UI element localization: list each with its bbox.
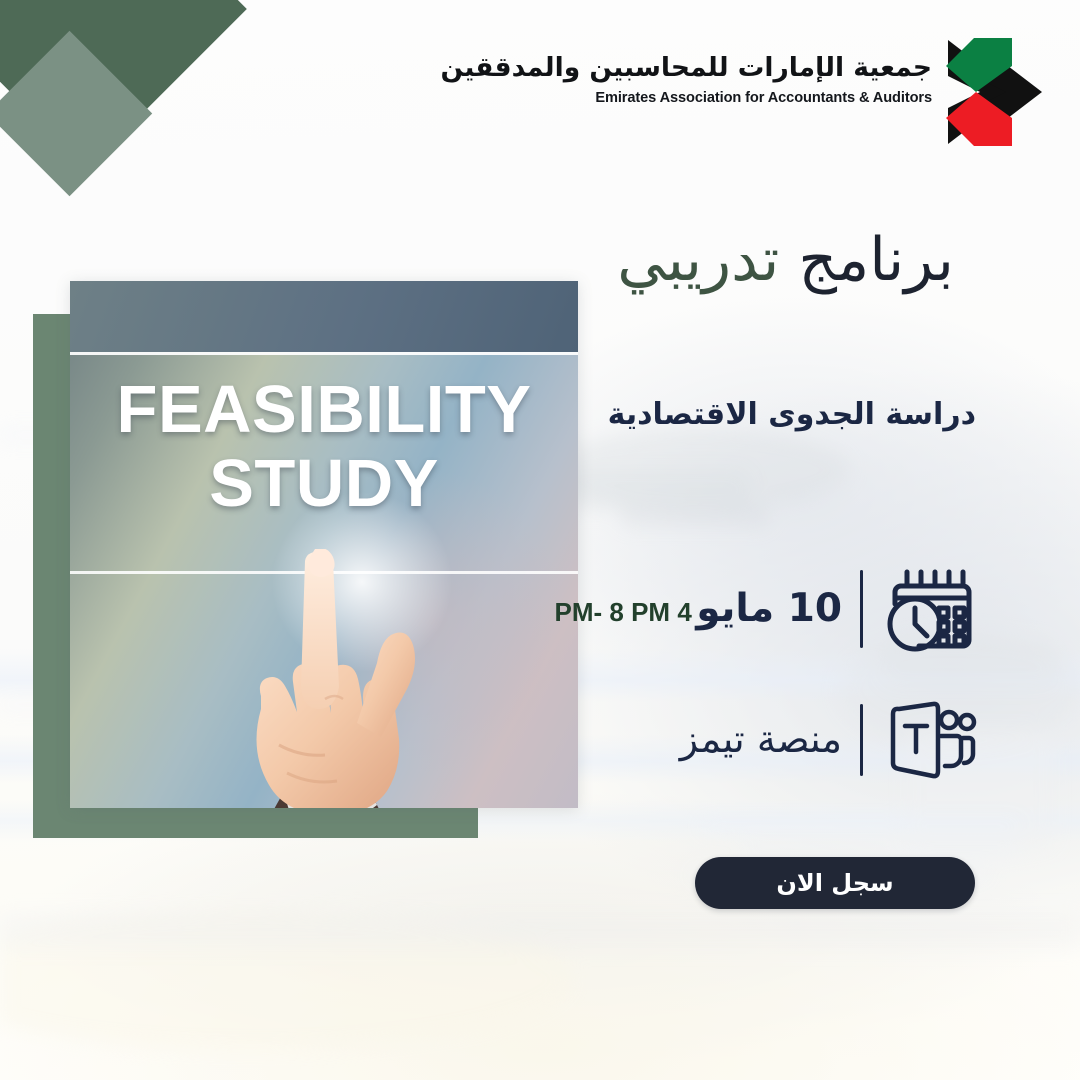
photo-headline: FEASIBILITY STUDY: [70, 377, 578, 516]
photo-headline-line2: STUDY: [70, 451, 578, 516]
info-divider-platform: [860, 704, 863, 776]
course-subtitle: دراسة الجدوى الاقتصادية: [608, 397, 976, 432]
pointing-hand-photo: [215, 549, 465, 808]
chevron-logo-icon: [938, 36, 1050, 148]
info-row-platform: منصة تيمز: [680, 700, 977, 780]
photo-top-band: [70, 281, 578, 352]
photo-headline-line1: FEASIBILITY: [117, 372, 532, 447]
event-time: 4 PM- 8 PM: [555, 597, 692, 627]
microsoft-teams-icon: [881, 700, 977, 780]
info-divider-date: [860, 570, 863, 648]
event-platform: منصة تيمز: [680, 717, 842, 761]
photo-divider-line-top: [70, 352, 578, 355]
logo-text-block: جمعية الإمارات للمحاسبين والمدققين Emira…: [441, 52, 933, 106]
info-text-platform: منصة تيمز: [680, 719, 842, 761]
calendar-clock-icon: [881, 566, 977, 652]
page-title-word-1: برنامج: [798, 225, 954, 295]
course-photo-card: FEASIBILITY STUDY: [70, 281, 578, 808]
event-date: 10 مايو: [696, 586, 842, 631]
register-now-button[interactable]: سجل الان: [695, 857, 975, 909]
logo-arabic-name: جمعية الإمارات للمحاسبين والمدققين: [441, 52, 933, 83]
page-title: برنامج تدريبي: [617, 226, 954, 295]
association-logo: جمعية الإمارات للمحاسبين والمدققين Emira…: [586, 48, 1056, 144]
info-row-date: 10 مايو 4 PM- 8 PM: [555, 566, 977, 652]
page-title-word-2: تدريبي: [617, 225, 779, 295]
logo-english-name: Emirates Association for Accountants & A…: [441, 90, 933, 106]
info-text-date: 10 مايو 4 PM- 8 PM: [555, 589, 842, 630]
